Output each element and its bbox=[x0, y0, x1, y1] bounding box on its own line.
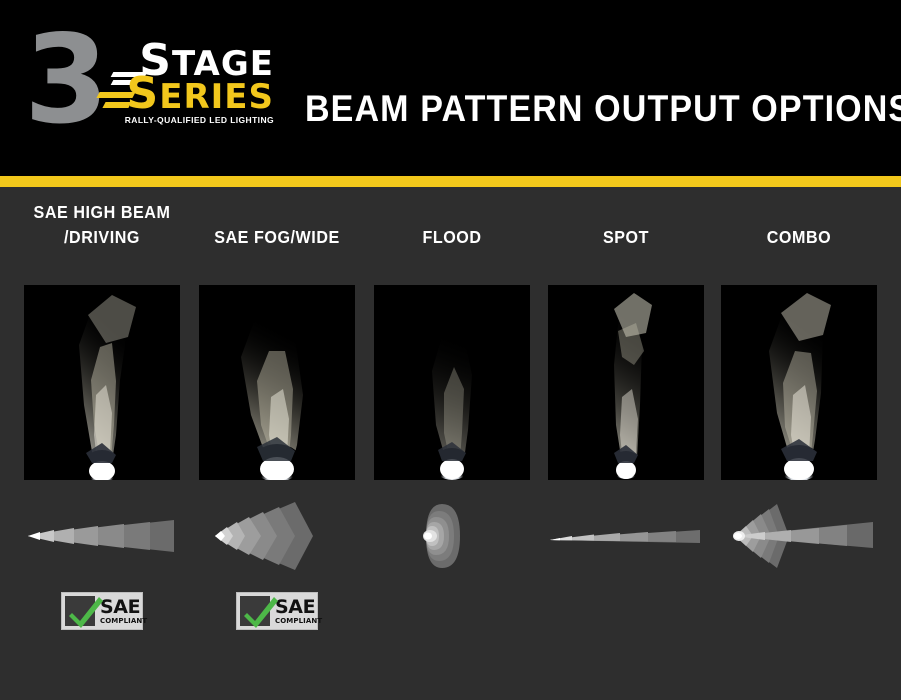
brand-logo: 3 STAGE SERIES RALLY-QUALIFIED LED LIGHT… bbox=[24, 28, 274, 138]
check-icon bbox=[68, 595, 104, 629]
beam-column-fog-wide: SAE FOG/WIDE bbox=[199, 200, 355, 250]
sae-badge-subtitle: COMPLIANT bbox=[100, 618, 147, 625]
logo-series-cap: S bbox=[127, 68, 160, 119]
beam-photo bbox=[199, 285, 355, 480]
logo-numeral: 3 bbox=[24, 28, 103, 133]
beam-spread-diagram bbox=[374, 496, 530, 576]
column-label: SAE FOG/WIDE bbox=[205, 200, 349, 250]
sae-badge-title: SAE bbox=[100, 598, 147, 617]
logo-series-rest: ERIES bbox=[159, 77, 274, 117]
column-label: SAE HIGH BEAM /DRIVING bbox=[30, 200, 174, 250]
beam-spread-diagram bbox=[721, 496, 877, 576]
page-title: BEAM PATTERN OUTPUT OPTIONS bbox=[305, 88, 901, 130]
header-divider bbox=[0, 176, 901, 187]
beam-column-driving: SAE HIGH BEAM /DRIVING bbox=[24, 200, 180, 250]
beam-options-grid: SAE HIGH BEAM /DRIVING bbox=[0, 200, 901, 670]
logo-wordmark: STAGE SERIES RALLY-QUALIFIED LED LIGHTIN… bbox=[106, 44, 276, 125]
beam-spread-diagram bbox=[199, 496, 355, 576]
sae-compliant-badge: SAE COMPLIANT bbox=[61, 592, 143, 630]
sae-compliant-badge: SAE COMPLIANT bbox=[236, 592, 318, 630]
header-band: 3 STAGE SERIES RALLY-QUALIFIED LED LIGHT… bbox=[0, 0, 901, 176]
beam-column-flood: FLOOD bbox=[374, 200, 530, 250]
sae-badge-text: SAE COMPLIANT bbox=[100, 598, 147, 625]
column-label: COMBO bbox=[727, 200, 871, 250]
beam-photo bbox=[24, 285, 180, 480]
sae-badge-wrap: SAE COMPLIANT bbox=[24, 592, 180, 630]
sae-badge-subtitle: COMPLIANT bbox=[275, 618, 322, 625]
beam-column-combo: COMBO bbox=[721, 200, 877, 250]
column-label: FLOOD bbox=[380, 200, 524, 250]
beam-column-spot: SPOT bbox=[548, 200, 704, 250]
sae-badge-title: SAE bbox=[275, 598, 322, 617]
column-label: SPOT bbox=[554, 200, 698, 250]
beam-photo bbox=[548, 285, 704, 480]
logo-word-series: SERIES bbox=[106, 77, 276, 114]
sae-badge-text: SAE COMPLIANT bbox=[275, 598, 322, 625]
beam-spread-diagram bbox=[24, 496, 180, 576]
sae-badge-wrap: SAE COMPLIANT bbox=[199, 592, 355, 630]
beam-photo bbox=[374, 285, 530, 480]
beam-spread-diagram bbox=[548, 496, 704, 576]
beam-photo bbox=[721, 285, 877, 480]
check-icon bbox=[243, 595, 279, 629]
